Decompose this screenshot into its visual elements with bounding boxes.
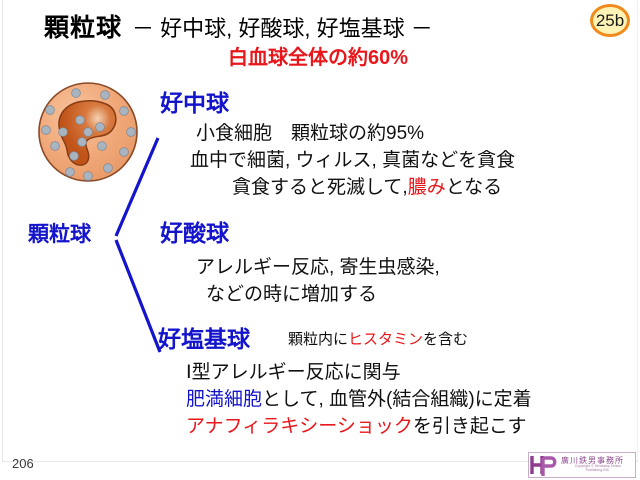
basophil-line-3: アナフィラキシーショックを引き起こす [186,411,527,438]
basophil-line-2: 肥満細胞として, 血管外(結合組織)に定着 [186,384,532,411]
logo-copyright-line-2: Publishing INC. [561,469,635,473]
slide-border-right [637,0,638,462]
neutrophil-line-3-pre: 貪食すると死滅して, [232,177,408,198]
title-main-text: 顆粒球 [44,14,122,42]
granulocyte-group-label: 顆粒球 [28,218,91,248]
title-percentage-note: 白血球全体の約60% [228,41,408,70]
basophil-line-3-highlight: アナフィラキシーショック [186,416,413,437]
neutrophil-line-2: 血中で細菌, ウィルス, 真菌などを貪食 [190,145,515,172]
neutrophil-line-3: 貪食すると死滅して,膿みとなる [232,172,502,199]
neutrophil-line-3-highlight: 膿み [408,177,446,198]
basophil-note: 顆粒内にヒスタミンを含む [288,328,468,349]
logo-text-block: 廣川鉄男事務所 Copyright © Hirokawa Tetsuo Publ… [559,457,635,473]
eosinophil-line-2: などの時に増加する [206,279,377,306]
eosinophil-line-1: アレルギー反応, 寄生虫感染, [196,252,440,279]
slide-root: 顆粒球－ 好中球, 好酸球, 好塩基球 － 白血球全体の約60% 25b [0,0,640,480]
page-number: 206 [12,456,34,471]
basophil-note-pre: 顆粒内に [288,331,348,348]
basophil-note-highlight: ヒスタミン [348,331,423,348]
slide-border-left [2,0,3,462]
granulocyte-cell-icon [36,80,140,184]
title-subtitle-text: － 好中球, 好酸球, 好塩基球 － [132,16,433,41]
page-title: 顆粒球－ 好中球, 好酸球, 好塩基球 － [44,8,433,44]
neutrophil-line-1: 小食細胞 顆粒球の約95% [196,118,424,145]
basophil-line-3-post: を引き起こす [413,416,527,437]
basophil-line-2-highlight: 肥満細胞 [186,389,262,410]
neutrophil-line-3-post: となる [446,177,502,198]
basophil-note-post: を含む [423,331,468,348]
section-heading-basophil: 好塩基球 [158,320,250,354]
publisher-logo: 廣川鉄男事務所 Copyright © Hirokawa Tetsuo Publ… [528,452,636,478]
hp-monogram-icon [529,453,559,477]
basophil-line-1: Ⅰ型アレルギー反応に関与 [186,357,401,384]
section-heading-eosinophil: 好酸球 [160,214,229,248]
section-heading-neutrophil: 好中球 [160,84,229,118]
slide-number-badge: 25b [590,4,630,37]
basophil-line-2-post: として, 血管外(結合組織)に定着 [262,389,532,410]
